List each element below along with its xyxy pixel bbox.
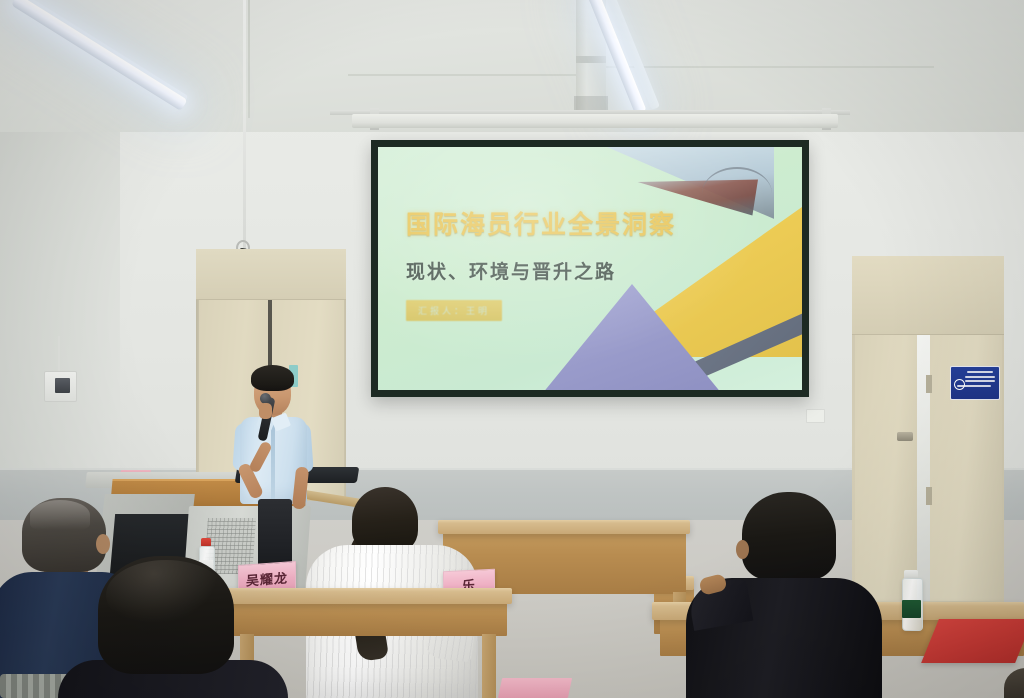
audience-4-ear (736, 540, 749, 559)
presenter-shirt-placket (271, 419, 275, 501)
water-bottle-right-label (902, 600, 921, 618)
audience-1-ear (96, 534, 110, 554)
presenter-hair (251, 365, 294, 391)
right-door-hinge-lower (926, 487, 932, 505)
desk-left (222, 588, 512, 604)
wall-switch-panel[interactable] (44, 371, 77, 402)
wall-outlet[interactable] (806, 409, 825, 423)
desk-left-leg-2 (482, 634, 496, 698)
audience-2-hair-highlight (106, 560, 226, 630)
slide-presenter-badge: 汇报人：王明 (406, 300, 502, 321)
ceiling-seam (248, 0, 250, 118)
safety-notice-sign (950, 366, 1000, 400)
presenter (232, 363, 316, 578)
presentation-slide: 国际海员行业全景洞察 现状、环境与晋升之路 汇报人：王明 (378, 147, 802, 390)
ceiling-seam (604, 66, 934, 68)
left-door-transom (196, 249, 346, 300)
notice-emblem-icon (954, 379, 965, 390)
lecture-hall-photo: 国际海员行业全景洞察 现状、环境与晋升之路 汇报人：王明 (0, 0, 1024, 698)
red-folder (921, 619, 1024, 663)
audience-1-hair-highlight (30, 500, 90, 530)
slide-subtitle: 现状、环境与晋升之路 (406, 257, 676, 284)
bench-middle (438, 520, 690, 534)
audience-4-head (742, 492, 836, 580)
wall-box-cable (58, 336, 60, 372)
presenter-hand (259, 403, 272, 419)
right-door-leaf-a[interactable] (855, 335, 917, 601)
desk-left-front (232, 600, 507, 636)
ceiling-seam (348, 74, 596, 76)
wall-switch-panel-face (55, 378, 70, 393)
pink-paper (498, 678, 572, 698)
hanging-cable (243, 0, 246, 250)
right-door-transom (852, 256, 1004, 335)
right-door-hinge-upper (926, 375, 932, 393)
slide-text-block: 国际海员行业全景洞察 现状、环境与晋升之路 汇报人：王明 (406, 205, 676, 321)
right-door-handle[interactable] (897, 432, 913, 441)
ceiling-beam-band (576, 56, 606, 63)
audience-3-head (352, 487, 418, 553)
screen-housing (352, 114, 838, 128)
slide-title: 国际海员行业全景洞察 (406, 205, 676, 241)
projector-screen: 国际海员行业全景洞察 现状、环境与晋升之路 汇报人：王明 (371, 140, 809, 397)
